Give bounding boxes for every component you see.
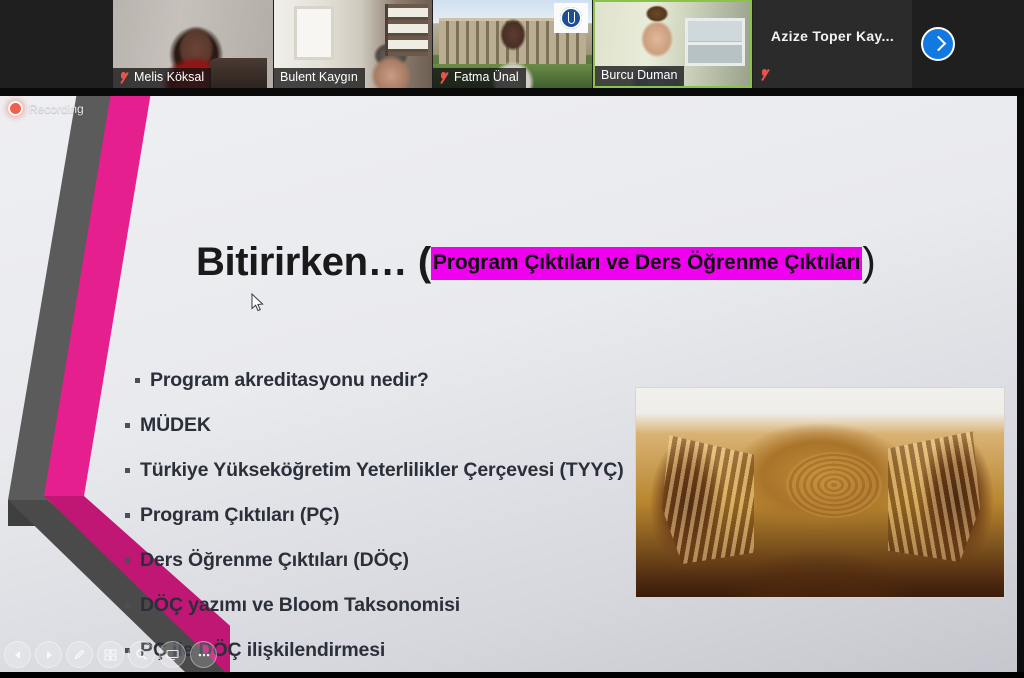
participant-name-badge: Melis Köksal	[113, 68, 211, 88]
zoom-button[interactable]	[128, 641, 155, 668]
slide-title-highlight: Program Çıktıları ve Ders Öğrenme Çıktıl…	[431, 247, 863, 280]
video-decor	[385, 4, 428, 56]
participant-name: Burcu Duman	[601, 68, 677, 83]
bullet-text: Program akreditasyonu nedir?	[150, 368, 429, 392]
participant-name: Bulent Kaygın	[280, 70, 358, 85]
bullet-square-icon	[125, 468, 130, 473]
participant-tile-melis-koksal[interactable]: Melis Köksal	[113, 0, 273, 88]
bullet-item: Ders Öğrenme Çıktıları (DÖÇ)	[125, 548, 645, 572]
bullet-item: Türkiye Yükseköğretim Yeterlilikler Çerç…	[125, 458, 645, 482]
bullet-text: Ders Öğrenme Çıktıları (DÖÇ)	[140, 548, 409, 572]
bullet-square-icon	[125, 603, 130, 608]
pen-tool-button[interactable]	[66, 641, 93, 668]
bullet-item: Program akreditasyonu nedir?	[125, 368, 645, 392]
recording-label: Recording	[29, 102, 84, 116]
slide-grid-button[interactable]	[97, 641, 124, 668]
next-slide-icon	[44, 650, 54, 660]
presenter-display-button[interactable]	[159, 641, 186, 668]
mic-muted-icon	[119, 71, 129, 84]
participant-tile-bulent-kaygin[interactable]: Bulent Kaygın	[274, 0, 432, 88]
slide-grid-icon	[104, 649, 117, 661]
bullet-square-icon	[125, 558, 130, 563]
participant-name-badge: Fatma Ünal	[433, 68, 526, 88]
zoom-icon	[135, 648, 148, 661]
presentation-slide[interactable]: Recording Bitirirken… (Program Çıktıları…	[0, 96, 1017, 672]
chevron-right-icon	[931, 36, 947, 52]
mic-muted-icon	[439, 71, 449, 84]
slide-title-main: Bitirirken… (	[196, 240, 431, 284]
slide-title: Bitirirken… (Program Çıktıları ve Ders Ö…	[196, 240, 875, 285]
image-layer	[786, 452, 882, 518]
participant-tile-fatma-unal[interactable]: Fatma Ünal	[433, 0, 592, 88]
slideshow-toolbar	[4, 641, 217, 668]
bullet-item: MÜDEK	[125, 413, 645, 437]
screen-share-window: Melis Köksal Bulent Kaygın Fatma Ünal	[0, 0, 1024, 678]
bullet-text: Türkiye Yükseköğretim Yeterlilikler Çerç…	[140, 458, 624, 482]
bullet-square-icon	[135, 378, 140, 383]
previous-slide-icon	[13, 650, 23, 660]
video-decor	[294, 6, 334, 60]
recording-dot-icon	[8, 101, 23, 116]
presenter-display-icon	[166, 649, 179, 661]
video-decor	[685, 18, 745, 66]
bullet-item: Program Çıktıları (PÇ)	[125, 503, 645, 527]
slide-title-close: )	[862, 240, 875, 284]
slide-bullet-list: Program akreditasyonu nedir? MÜDEK Türki…	[125, 368, 645, 672]
university-logo-icon	[554, 3, 588, 33]
more-options-icon	[197, 652, 211, 658]
participant-name: Fatma Ünal	[454, 70, 519, 85]
bullet-item: DÖÇ yazımı ve Bloom Taksonomisi	[125, 593, 645, 617]
previous-slide-button[interactable]	[4, 641, 31, 668]
more-options-button[interactable]	[190, 641, 217, 668]
participant-name: Melis Köksal	[134, 70, 204, 85]
participant-tile-burcu-duman[interactable]: Burcu Duman	[593, 0, 752, 88]
pen-icon	[73, 648, 86, 661]
participant-name-badge: Bulent Kaygın	[274, 68, 365, 88]
participant-name: Azize Toper Kay...	[753, 28, 912, 44]
participant-name-badge: Burcu Duman	[595, 66, 684, 86]
bullet-text: DÖÇ yazımı ve Bloom Taksonomisi	[140, 593, 460, 617]
bullet-square-icon	[125, 423, 130, 428]
slide-image-wooden-log-sculpture	[635, 387, 1005, 598]
next-participants-page-button[interactable]	[921, 27, 955, 61]
window-edge	[1017, 96, 1024, 672]
window-bottom-edge	[0, 672, 1024, 678]
participant-video-strip: Melis Köksal Bulent Kaygın Fatma Ünal	[0, 0, 1024, 88]
recording-indicator: Recording	[8, 101, 84, 116]
video-decor	[209, 58, 267, 88]
next-slide-button[interactable]	[35, 641, 62, 668]
participant-tile-azize-toper[interactable]: Azize Toper Kay...	[753, 0, 912, 88]
bullet-text: Program Çıktıları (PÇ)	[140, 503, 339, 527]
mic-muted-icon	[760, 68, 770, 81]
bullet-text: MÜDEK	[140, 413, 211, 437]
bullet-square-icon	[125, 513, 130, 518]
